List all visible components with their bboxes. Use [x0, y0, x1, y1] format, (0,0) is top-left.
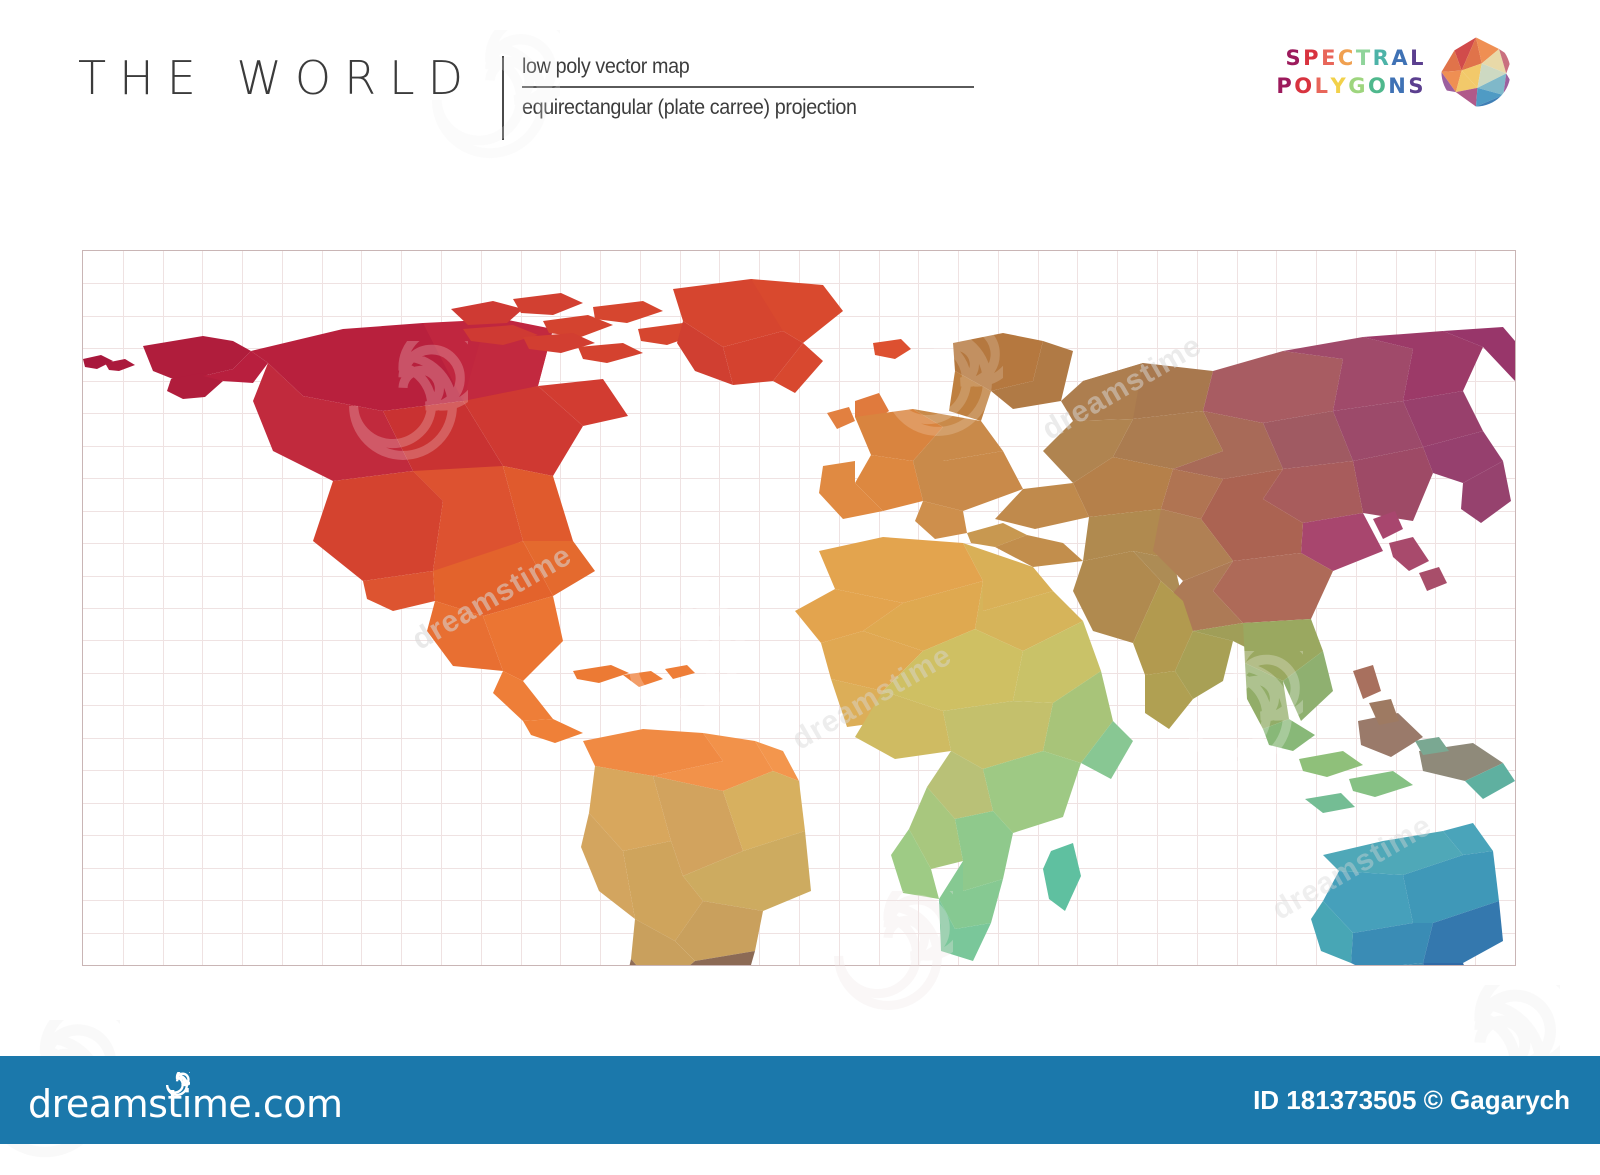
- brand-polygons-letter-7: S: [1408, 72, 1426, 100]
- brand-spectral-letter-4: T: [1356, 44, 1373, 72]
- brand-spectral-letter-0: S: [1286, 44, 1304, 72]
- title-divider: [502, 56, 504, 140]
- brand-spectral-letter-2: E: [1321, 44, 1338, 72]
- image-credit: ID 181373505 © Gagarych: [1253, 1085, 1570, 1116]
- region-south-america: [581, 729, 811, 965]
- brand-logo: SPECTRAL POLYGONS: [1276, 36, 1512, 108]
- brand-polygons-letter-1: O: [1294, 72, 1314, 100]
- brand-polygons-letter-6: N: [1388, 72, 1408, 100]
- spiral-icon: [164, 1072, 190, 1098]
- brand-spectral-letter-7: L: [1410, 44, 1426, 72]
- subtitle-line-1: low poly vector map: [522, 54, 947, 80]
- subtitle-rule: [522, 86, 974, 88]
- low-poly-sphere-icon: [1440, 36, 1512, 108]
- brand-text: SPECTRAL POLYGONS: [1276, 44, 1426, 100]
- region-north-america: [83, 279, 911, 743]
- world-map[interactable]: dreamstime dreamstime dreamstime dreamst…: [82, 250, 1516, 966]
- brand-polygons-letter-0: P: [1276, 72, 1294, 100]
- low-poly-continents: [83, 251, 1515, 965]
- page-header: THE WORLD low poly vector map equirectan…: [0, 0, 1600, 160]
- brand-line-spectral: SPECTRAL: [1276, 44, 1426, 72]
- region-australia: [1311, 823, 1513, 965]
- subtitle-block: low poly vector map equirectangular (pla…: [522, 54, 974, 121]
- title-block: THE WORLD low poly vector map equirectan…: [78, 52, 974, 140]
- subtitle-line-2: equirectangular (plate carree) projectio…: [522, 95, 947, 121]
- brand-spectral-letter-1: P: [1303, 44, 1321, 72]
- brand-line-polygons: POLYGONS: [1276, 72, 1426, 100]
- brand-spectral-letter-3: C: [1338, 44, 1356, 72]
- page-title: THE WORLD: [78, 52, 476, 104]
- brand-spectral-letter-6: A: [1391, 44, 1410, 72]
- brand-polygons-letter-5: O: [1368, 72, 1388, 100]
- brand-polygons-letter-3: Y: [1330, 72, 1348, 100]
- page-footer: dreamstime.com ID 181373505 © Gagarych: [0, 1056, 1600, 1144]
- brand-polygons-letter-4: G: [1348, 72, 1368, 100]
- brand-polygons-letter-2: L: [1315, 72, 1331, 100]
- brand-spectral-letter-5: R: [1373, 44, 1392, 72]
